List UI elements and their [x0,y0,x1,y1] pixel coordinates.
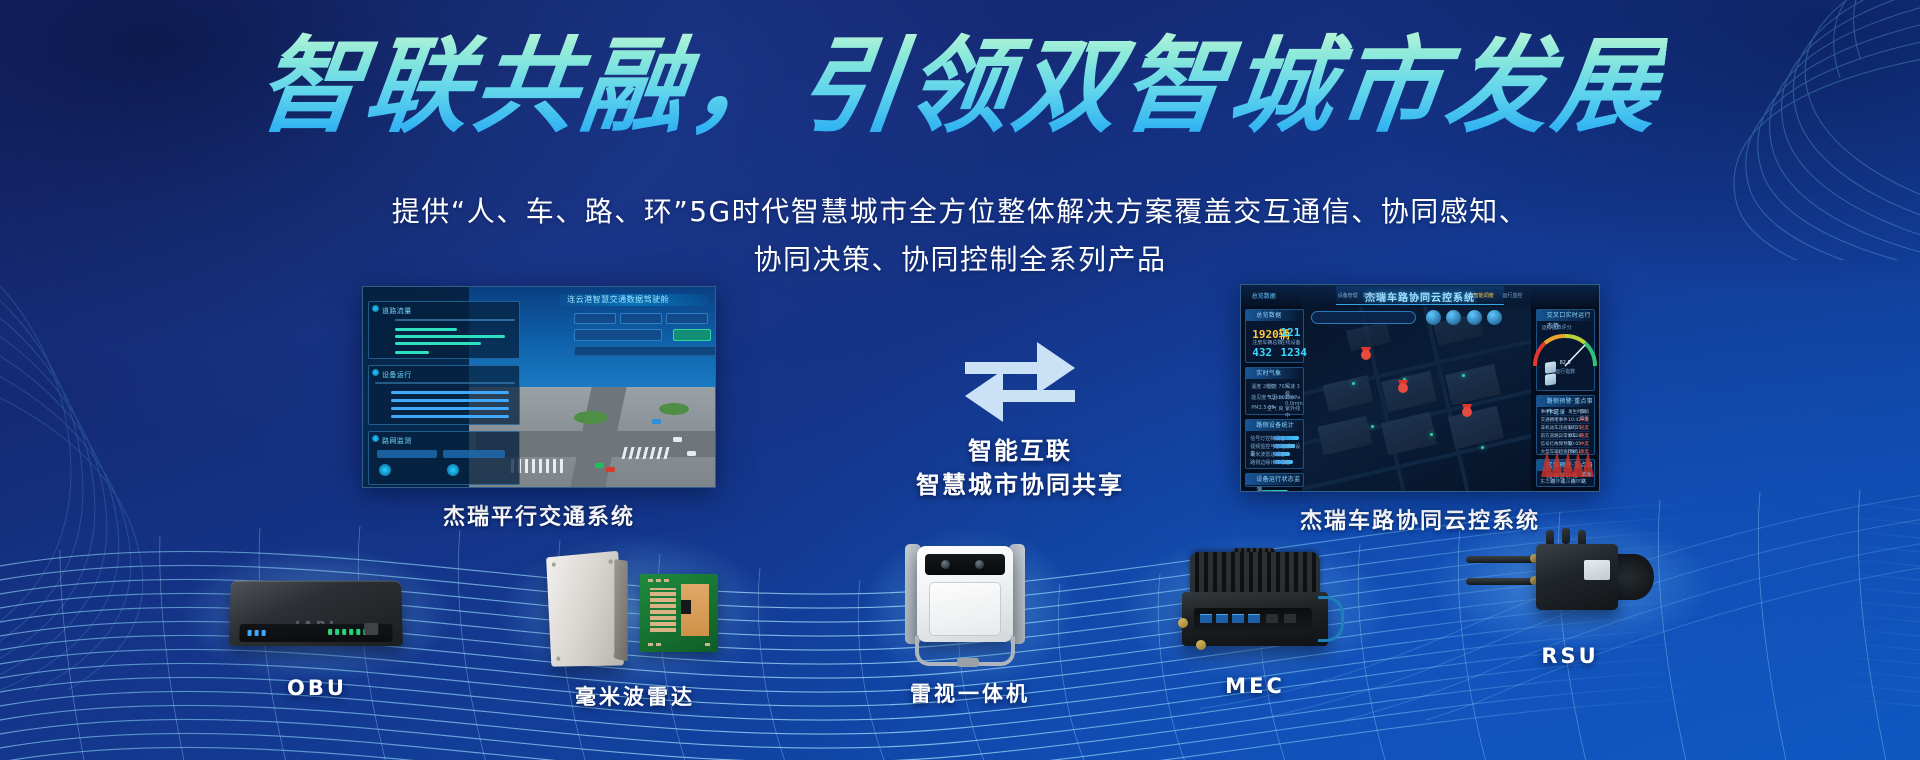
panel-device-status: 设备运行状态监测 [1245,473,1304,487]
table-row: 交通拥堵事件 10:42 中度 [1541,417,1590,424]
scene-median-green-2 [659,403,689,415]
metric-label-0: 注册车辆总数 [1252,339,1282,346]
center-exchange-block: 智能互联 智慧城市协同共享 [860,330,1180,502]
map-sensor-glow [1371,425,1374,428]
gauge-value: 82.5 [1560,360,1571,366]
mec-sma-connector [1196,640,1206,650]
mec-chassis [1182,592,1328,646]
card-bar [391,391,509,394]
screw-icon [556,657,560,661]
rsu-device-art [1470,526,1670,636]
center-line-1: 智能互联 [860,434,1180,468]
product-rsu[interactable]: RSU [1470,526,1670,668]
camera-lens-bar [925,554,1005,575]
map-tool-icon[interactable] [1487,310,1502,325]
screw-icon [552,562,556,566]
card-bar [391,407,509,410]
product-mmwave-radar[interactable]: 毫米波雷达 [540,548,730,711]
panel-title: 实时气象 [1246,368,1303,379]
mec-device-art [1160,546,1350,666]
pcb-pad [648,579,653,582]
dashboard-right-sidebar: 交叉口实时运行态势 运行指数评分 82.5 运行指数 路侧预警· [1536,309,1595,487]
page-title: 智联共融，引领双智城市发展 [251,28,1669,144]
obu-led-icon [349,629,353,635]
table-cell: 交通拥堵事件 [1541,417,1568,424]
pcb-pad [705,643,710,646]
obu-chassis: JARI [229,581,403,646]
radar-chip-icon [681,600,691,614]
map-marker-pin[interactable] [1398,380,1408,392]
panel-overview: 总览数据 1920辆 注册车辆总数 121 在线设备 432 1234 [1245,309,1304,363]
map-sensor-glow [1481,446,1484,449]
camera-lens-icon [975,560,984,569]
mmwave-radar-art [540,548,730,673]
topbar-nav-3[interactable]: 运行监控 [1502,292,1522,299]
promo-banner: 智联共融，引领双智城市发展 提供“人、车、路、环”5G时代智慧城市全方位整体解决… [0,0,1920,760]
card-title-0: 道路流量 [382,306,412,316]
card-icon-circle [447,464,459,476]
panel-parallel-traffic[interactable]: 连云港智慧交通数据驾驶舱 道路流量 设备运行 [362,286,716,531]
chart-xtick-4: 滨海路 [1581,471,1594,485]
obu-led-icon [328,629,332,635]
pcb-pad [648,643,653,646]
metric-value-1: 121 [1281,326,1301,339]
map-sensor-glow [1462,374,1465,377]
rsu-antenna-lower [1466,578,1540,585]
panel-event-table: 路侧预警·重点事件记录 事件类型 发生时间 影响等级 交通拥堵事件 10:42 … [1536,395,1595,455]
scene-median-green [574,411,608,424]
mec-sma-connector [1178,618,1188,628]
rsu-antenna-stub [1562,528,1570,544]
topbar-brand: 总览数据 [1252,291,1276,300]
dashboard-button-1[interactable] [620,313,662,324]
panel-title: 设备运行状态监测 [1246,474,1303,485]
card-title-1: 设备运行 [382,370,412,380]
rsu-side-antenna [1614,554,1654,600]
card-bar [391,415,509,418]
stat-label-0: 信号灯控制设备 [1250,435,1285,442]
table-row: 信号灯故障预警 10:05 中度 [1541,441,1590,448]
dashboard-card-devices: 设备运行 [368,365,520,425]
scene-vehicle [673,437,682,442]
scene-vehicle [606,467,615,472]
map-tool-icon[interactable] [1467,310,1482,325]
weather-item-7: 空气 良 [1267,405,1284,412]
map-building-block [1322,375,1373,411]
product-row: JARI OBU [0,550,1920,730]
card-tabs-row[interactable] [375,382,515,384]
product-radar-camera[interactable]: 雷视一体机 [895,540,1045,708]
map-search-input[interactable] [1311,311,1416,324]
dashboard-search-input[interactable] [574,329,662,341]
table-cell: 轻度 [1580,425,1589,432]
table-header-0: 事件类型 [1541,409,1559,416]
panel-title: 交叉口实时运行态势 [1537,310,1594,321]
card-chip [377,450,437,458]
dashboard-status-strip [574,346,716,356]
screenshot-parallel-traffic-dashboard: 连云港智慧交通数据驾驶舱 道路流量 设备运行 [362,286,716,488]
scene-vehicle [595,463,604,468]
table-cell: 中度 [1580,441,1589,448]
camera-radar-radome [929,582,1001,636]
stat-label-3: 路侧边缘计算设备 [1250,459,1290,466]
scene-vehicle [652,419,661,424]
table-row: 前方道路异常停车 10:28 重度 [1541,433,1590,440]
camera-body [917,546,1013,642]
obu-led-icon [335,629,339,635]
radar-enclosure-side [614,559,627,661]
card-title-2: 路网监测 [382,436,412,446]
mec-io-panel [1194,608,1312,630]
table-header-row: 事件类型 发生时间 影响等级 [1541,409,1590,416]
camera-mount-foot [957,658,979,667]
pcb-pad [664,579,669,582]
table-cell: 重度 [1580,433,1589,440]
screenshot-cloud-control-dashboard: 杰瑞车路协同云控系统 总览数据 设备管理 车辆管理 智能调度 运行监控 总览数据… [1240,284,1600,492]
rsu-product-label [1584,560,1610,580]
panel-intersection-status: 交叉口实时运行态势 运行指数评分 82.5 运行指数 [1536,309,1595,391]
radar-camera-art [895,540,1045,670]
mec-rj45-port [1284,614,1296,623]
cube-icon [1545,361,1556,374]
mec-cable [1318,596,1344,642]
obu-led-icon [255,630,259,636]
dashboard-toggle[interactable] [673,329,711,341]
panel-title: 总览数据 [1246,310,1303,321]
product-obu[interactable]: JARI OBU [222,558,412,700]
map-tool-icon[interactable] [1426,310,1441,325]
subtitle-line-1: 提供“人、车、路、环”5G时代智慧城市全方位整体解决方案覆盖交互通信、协同感知、 [0,188,1920,236]
headline-container: 智联共融，引领双智城市发展 [0,28,1920,144]
center-line-2: 智慧城市协同共享 [860,468,1180,502]
pcb-pad [656,579,661,582]
map-marker-pin[interactable] [1462,404,1472,416]
topbar-nav-2[interactable]: 智能调度 [1474,292,1494,299]
mec-usb-port [1232,614,1244,623]
subtitle-container: 提供“人、车、路、环”5G时代智慧城市全方位整体解决方案覆盖交互通信、协同感知、… [0,188,1920,284]
subtitle-line-2: 协同决策、协同控制全系列产品 [0,236,1920,284]
panel-title: 路侧预警·重点事件记录 [1537,396,1594,407]
radar-enclosure [546,551,624,667]
obu-led-icon [262,630,266,636]
screw-icon [609,559,613,563]
map-marker-pin[interactable] [1361,347,1371,359]
mec-usb-port [1248,614,1260,623]
topbar-nav-0[interactable]: 设备管理 [1338,292,1358,299]
gauge-label: 运行指数 [1555,368,1575,375]
mec-usb-port [1216,614,1228,623]
dashboard-card-flow: 道路流量 [368,301,520,359]
panel-area-warning-chart: 区域预警·重点路段预警分布 东华路 西环路 北斗路 南环路 滨海路 [1536,459,1595,487]
radar-pcb-board [640,574,718,652]
city-3d-map[interactable] [1302,285,1531,491]
weather-item-8: 紫外线 中 [1285,405,1303,419]
card-chip [443,450,505,458]
card-bar [391,399,509,402]
metric-value-3: 1234 [1281,346,1308,359]
dashboard-button-0[interactable] [574,313,616,324]
metric-value-2: 432 [1252,346,1272,359]
product-glow [493,532,778,695]
card-icon-circle [379,464,391,476]
obu-led-icon [247,630,251,636]
dashboard-screen-title: 连云港智慧交通数据驾驶舱 [567,294,669,305]
obu-rj45-port [364,623,378,635]
card-bullet-icon [372,305,379,312]
table-cell: 中度 [1580,417,1589,424]
obu-device-art: JARI [222,558,412,668]
card-bullet-icon [372,369,379,376]
obu-front-face [239,624,392,642]
topbar-nav-1[interactable]: 车辆管理 [1363,292,1383,299]
card-bar [395,328,457,331]
rsu-antenna-upper [1466,556,1540,563]
obu-led-icon [342,629,346,635]
dashboard-left-sidebar: 总览数据 1920辆 注册车辆总数 121 在线设备 432 1234 实时气象… [1245,309,1304,487]
panel-weather: 实时气象 温度 28℃ 湿度 76% 风速 3级 能见度 5.2km 气压 10… [1245,367,1304,415]
panel-title: 路侧设备统计 [1246,420,1303,431]
caption-parallel-traffic: 杰瑞平行交通系统 [362,499,716,531]
scene-crosswalk-b [622,447,671,459]
card-bar [395,351,429,354]
metric-label-1: 在线设备 [1281,339,1301,346]
cube-icon [1545,373,1556,386]
mec-usb-port [1200,614,1212,623]
rsu-chassis [1536,544,1618,610]
pcb-pad [656,643,661,646]
panel-cloud-control[interactable]: 杰瑞车路协同云控系统 总览数据 设备管理 车辆管理 智能调度 运行监控 总览数据… [1240,284,1600,535]
map-building-block [1382,370,1438,411]
swap-exchange-arrows-icon [959,330,1081,422]
radar-antenna-patch-array [650,588,676,632]
scene-vehicle [687,451,696,456]
status-bar [1261,490,1288,492]
card-legend-row [395,319,515,321]
camera-lens-icon [941,560,950,569]
dashboard-card-network: 路网监测 [368,431,520,485]
mec-rj45-port [1266,614,1278,623]
product-mec[interactable]: MEC [1160,546,1350,698]
map-building-block [1318,416,1374,455]
dashboard-button-2[interactable] [666,313,708,324]
stat-label-2: 毫米波雷达设备 [1250,451,1285,458]
card-bar [395,342,481,345]
table-row: 非机动车违规穿行 10:35 轻度 [1541,425,1590,432]
obu-led-icon [356,629,360,635]
panel-roadside-stats: 路侧设备统计 信号灯控制设备 视频监控与智能感知设备 毫米波雷达设备 路侧边缘计… [1245,419,1304,469]
card-bar [395,335,505,338]
card-bullet-icon [372,435,379,442]
mec-heatsink-fins [1190,552,1320,596]
